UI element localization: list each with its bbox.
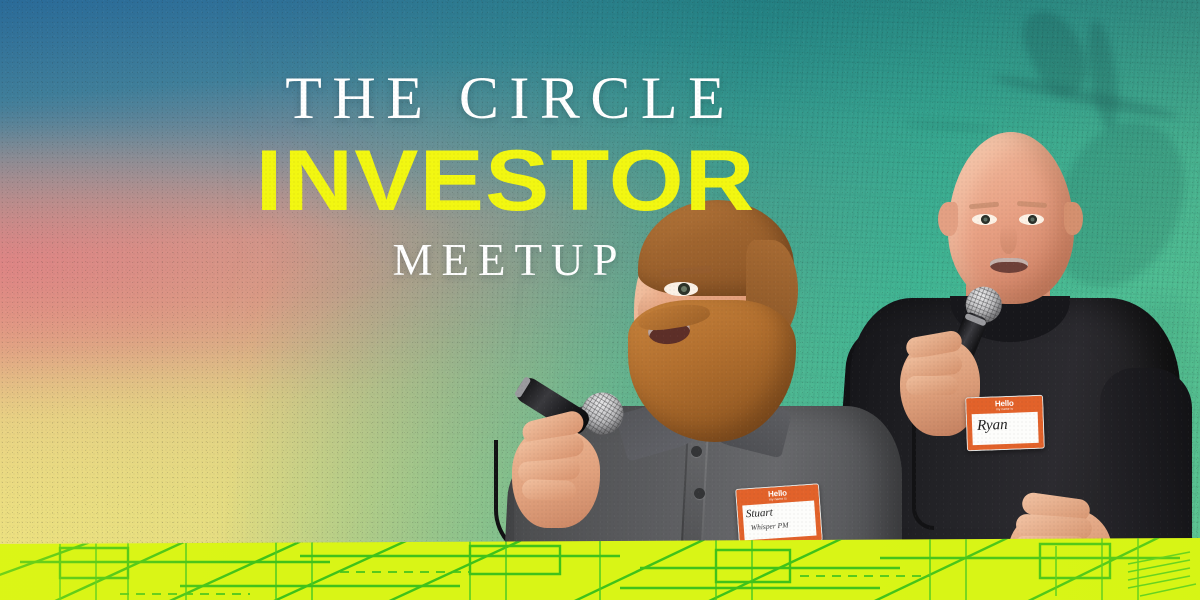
- stuart-hand-holding-mic: [512, 410, 606, 528]
- stuart-polo-button-1: [691, 446, 702, 457]
- ryan-mouth: [990, 258, 1028, 273]
- ryan-eye-left: [972, 214, 997, 225]
- ryan-ear-right: [1064, 202, 1083, 235]
- badge-subtitle-ryan: my name is: [996, 408, 1013, 412]
- blueprint-lines: [0, 538, 1200, 600]
- ryan-eye-right: [1019, 214, 1044, 225]
- name-badge-ryan: Hello my name is Ryan: [965, 395, 1045, 452]
- badge-name-ryan: Ryan: [967, 412, 1044, 436]
- ryan-ear-left: [938, 202, 958, 236]
- speaker-photos: Hello my name is Ryan: [0, 0, 1200, 600]
- stuart-polo-button-2: [694, 488, 705, 499]
- ryan-nose: [1000, 224, 1017, 254]
- bottom-blueprint-strip: [0, 538, 1200, 600]
- event-banner: Hello my name is Ryan: [0, 0, 1200, 600]
- name-badge-stuart: Hello my name is Stuart Whisper PM: [735, 483, 823, 547]
- badge-subtitle-stuart: my name is: [769, 497, 787, 502]
